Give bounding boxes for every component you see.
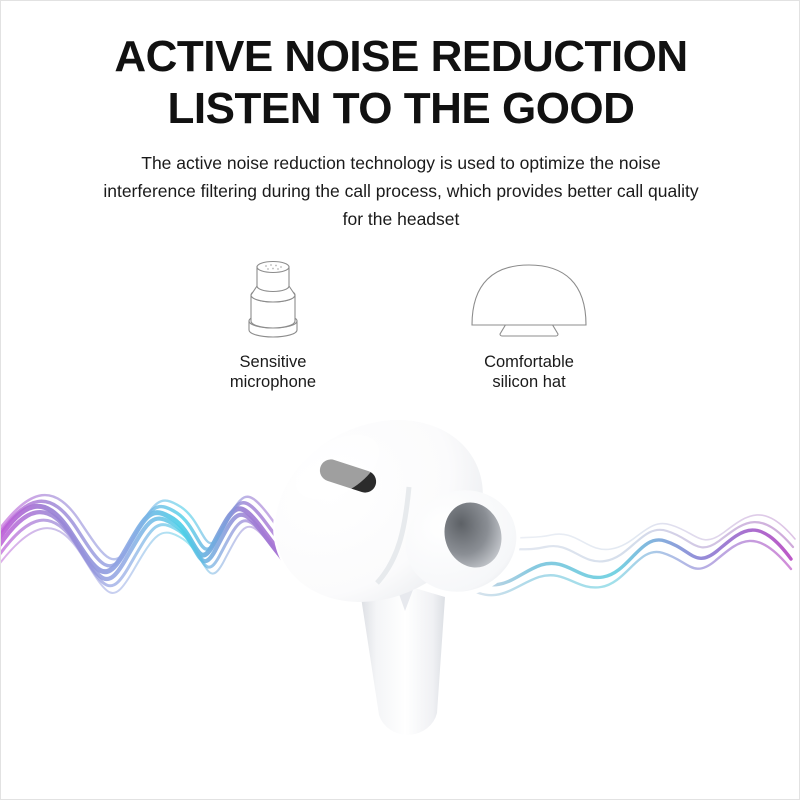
sound-wave-graphic	[1, 401, 800, 800]
feature-sensitive-microphone: Sensitive microphone	[188, 253, 358, 392]
description-line-1: The active noise reduction technology is…	[46, 149, 756, 177]
product-hero-stage	[1, 401, 800, 800]
description-line-3: for the headset	[46, 205, 756, 233]
feature-label-silicon-hat-line-2: silicon hat	[484, 372, 574, 392]
feature-label-silicon-hat-line-1: Comfortable	[484, 352, 574, 372]
feature-label-microphone: Sensitive microphone	[230, 352, 316, 392]
microphone-capsule-icon	[235, 253, 311, 343]
feature-label-silicon-hat: Comfortable silicon hat	[484, 352, 574, 392]
silicon-ear-tip-icon	[464, 253, 594, 343]
headline-line-1: ACTIVE NOISE REDUCTION	[114, 32, 687, 81]
page-title: ACTIVE NOISE REDUCTION LISTEN TO THE GOO…	[1, 31, 800, 135]
feature-label-microphone-line-2: microphone	[230, 372, 316, 392]
description-paragraph: The active noise reduction technology is…	[46, 149, 756, 233]
product-marketing-banner: ACTIVE NOISE REDUCTION LISTEN TO THE GOO…	[0, 0, 800, 800]
headline-line-2: LISTEN TO THE GOOD	[1, 83, 800, 135]
feature-label-microphone-line-1: Sensitive	[230, 352, 316, 372]
description-line-2: interference filtering during the call p…	[46, 177, 756, 205]
feature-callout-group: Sensitive microphone Comfortable silicon…	[1, 253, 800, 392]
earbud-product-image	[244, 401, 531, 735]
feature-silicon-hat: Comfortable silicon hat	[444, 253, 614, 392]
